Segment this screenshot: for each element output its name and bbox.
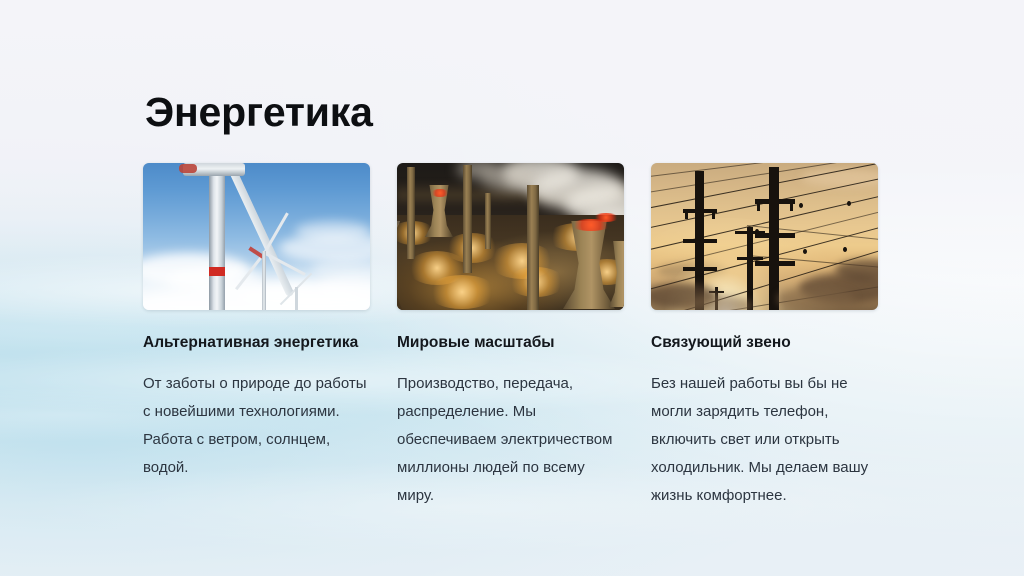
cloud-shape [681,295,753,310]
warning-light [593,213,619,222]
column-body-text: От заботы о природе до работы с новейшим… [143,370,370,482]
column-body-text: Производство, передача, распределение. М… [397,370,624,510]
wire-insulator [847,201,851,206]
pole-crossarm [735,231,765,234]
pole-brace [790,202,793,211]
turbine-tower [209,169,225,310]
pole-brace [685,211,688,219]
pole-crossarm [683,239,717,243]
column-body-text: Без нашей работы вы бы не могли зарядить… [651,370,878,510]
turbine-tower [262,251,266,310]
pole-brace [712,211,715,219]
pole-crossarm [683,267,717,271]
page-title: Энергетика [145,89,373,136]
pole-brace [757,202,760,211]
cloud-shape [777,287,855,310]
column-heading: Связующий звено [651,332,878,353]
power-lines-artwork [651,163,878,310]
wind-turbine-photo [143,163,370,310]
column-connecting-link: Связующий звено Без нашей работы вы бы н… [651,163,878,510]
column-global-scale: Мировые масштабы Производство, передача,… [397,163,624,510]
turbine-red-band [209,267,225,276]
wire-insulator [799,203,803,208]
pole-crossarm [755,261,795,266]
plant-light-glow [427,275,497,309]
low-cloud-bank [143,262,370,310]
pole-crossarm [755,199,795,204]
column-heading: Мировые масштабы [397,332,624,353]
power-lines-photo [651,163,878,310]
warning-light [431,189,449,197]
power-plant-artwork [397,163,624,310]
smokestack [527,185,539,310]
cloud-shape [295,221,370,241]
power-plant-photo [397,163,624,310]
utility-pole [747,227,753,310]
smokestack [485,193,491,249]
column-heading: Альтернативная энергетика [143,332,370,353]
smokestack [463,165,472,273]
wire-insulator [843,247,847,252]
wire-insulator [697,175,701,180]
turbine-nacelle-cap [179,164,197,173]
wind-turbine-artwork [143,163,370,310]
columns-row: Альтернативная энергетика От заботы о пр… [143,163,885,510]
presentation-slide: Энергетика [0,0,1024,576]
slide-content: Энергетика [0,0,1024,576]
utility-pole [769,167,779,310]
wire-insulator [803,249,807,254]
smokestack [407,167,415,259]
turbine-tower [295,287,298,310]
column-alternative-energy: Альтернативная энергетика От заботы о пр… [143,163,370,510]
pole-crossarm [737,257,763,260]
wire-insulator [755,229,759,234]
